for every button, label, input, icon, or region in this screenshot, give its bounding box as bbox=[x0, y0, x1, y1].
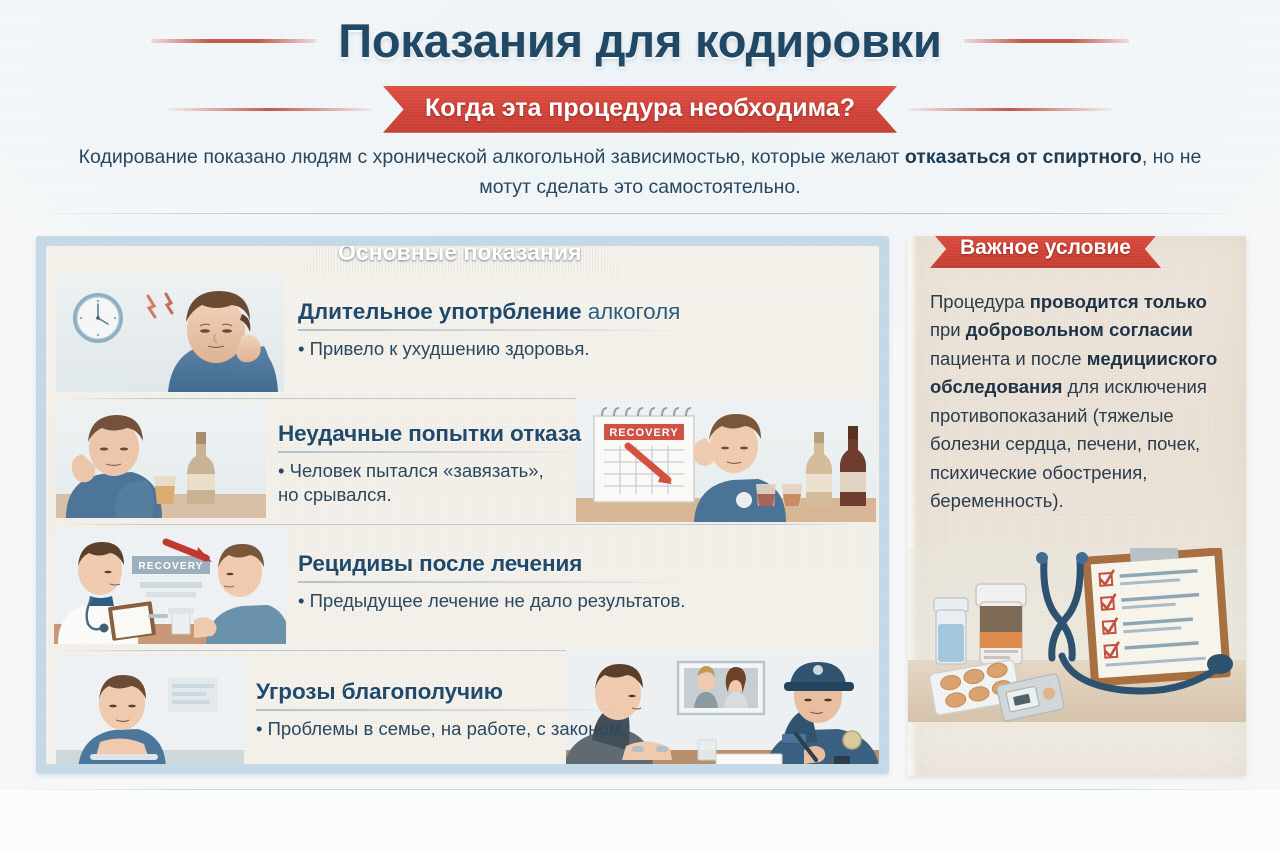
item-bullet: • Предыдущее лечение не дало результатов… bbox=[298, 589, 685, 613]
subtitle-rule-right bbox=[907, 108, 1112, 111]
item-underline bbox=[298, 329, 680, 331]
svg-text:RECOVERY: RECOVERY bbox=[138, 561, 203, 572]
infographic-page: Показания для кодировки Когда эта процед… bbox=[0, 0, 1280, 853]
tired-man-with-clock-illustration bbox=[56, 274, 284, 392]
calendar-recovery-relapse-illustration: RECOVERY bbox=[576, 398, 876, 522]
indications-list: Длительное употрбление алкоголя • Привел… bbox=[46, 246, 879, 764]
header-divider bbox=[30, 213, 1250, 214]
item-underline bbox=[256, 709, 627, 711]
condition-text-run-3: добровольном согласии bbox=[966, 319, 1193, 340]
item-title-bold: Угрозы благополучию bbox=[256, 679, 503, 704]
list-item: RECOVERY bbox=[46, 524, 879, 650]
important-condition-banner-label: Важное условие bbox=[960, 236, 1131, 259]
title-rule-left bbox=[151, 39, 316, 43]
important-condition-banner: Важное условие bbox=[930, 236, 1161, 268]
condition-text-run-1: проводится только bbox=[1030, 291, 1207, 312]
item-title-bold: Неудачные попытки отказа bbox=[278, 421, 581, 446]
item-bullet: • Проблемы в семье, на работе, с законом… bbox=[256, 717, 627, 741]
item-title: Рецидивы после лечения bbox=[298, 550, 685, 577]
item-title-bold: Длительное употрбление bbox=[298, 299, 582, 324]
svg-text:RECOVERY: RECOVERY bbox=[609, 427, 678, 439]
man-at-table-with-bottles-illustration bbox=[56, 402, 266, 518]
list-item: RECOVERY bbox=[46, 398, 879, 524]
main-indications-banner: Основные показания bbox=[298, 246, 621, 275]
item-title-light: алкоголя bbox=[582, 299, 681, 324]
doctor-and-patient-consultation-illustration: RECOVERY bbox=[54, 528, 286, 644]
title-rule-right bbox=[964, 39, 1129, 43]
item-text: Неудачные попытки отказа • Человек пытал… bbox=[278, 420, 581, 508]
intro-text-part1: Кодирование показано людям с хронической… bbox=[79, 146, 905, 168]
list-item: Длительное употрбление алкоголя • Привел… bbox=[46, 272, 879, 398]
item-title-bold: Рецидивы после лечения bbox=[298, 551, 582, 576]
header: Показания для кодировки Когда эта процед… bbox=[0, 0, 1280, 215]
main-indications-banner-label: Основные показания bbox=[338, 246, 581, 265]
item-underline bbox=[298, 581, 685, 583]
condition-text-run-4: пациента и после bbox=[930, 348, 1087, 369]
item-underline bbox=[278, 451, 581, 453]
title-row: Показания для кодировки bbox=[0, 16, 1280, 65]
main-indications-panel: Длительное употрбление алкоголя • Привел… bbox=[36, 236, 889, 774]
main-indications-paper: Длительное употрбление алкоголя • Привел… bbox=[46, 246, 879, 764]
medical-clipboard-pills-stethoscope-illustration bbox=[908, 548, 1246, 758]
condition-text-run-0: Процедура bbox=[930, 291, 1030, 312]
footer-area bbox=[0, 790, 1280, 853]
important-condition-body: Процедура проводится только при добровол… bbox=[930, 288, 1230, 516]
subtitle-ribbon-label: Когда эта процедура необходима? bbox=[425, 94, 855, 122]
item-title: Длительное употрбление алкоголя bbox=[298, 298, 680, 325]
condition-text-run-2: при bbox=[930, 319, 966, 340]
item-text: Длительное употрбление алкоголя • Привел… bbox=[298, 298, 680, 361]
page-title: Показания для кодировки bbox=[338, 16, 941, 65]
item-text: Рецидивы после лечения • Предыдущее лече… bbox=[298, 550, 685, 613]
item-bullet: • Человек пытался «завязать», но срывалс… bbox=[278, 459, 581, 508]
item-text: Угрозы благополучию • Проблемы в семье, … bbox=[256, 678, 627, 741]
item-title: Неудачные попытки отказа bbox=[278, 420, 581, 447]
item-bullet: • Привело к ухудшению здоровья. bbox=[298, 337, 680, 361]
list-item: Угрозы благополучию • Проблемы в семье, … bbox=[46, 650, 879, 764]
intro-paragraph: Кодирование показано людям с хронической… bbox=[75, 143, 1205, 202]
intro-text-bold: отказаться от спиртного bbox=[905, 146, 1142, 168]
subtitle-ribbon: Когда эта процедура необходима? bbox=[383, 86, 897, 133]
subtitle-rule-left bbox=[168, 108, 373, 111]
important-condition-panel: Важное условие Процедура проводится толь… bbox=[908, 236, 1246, 776]
subtitle-row: Когда эта процедура необходима? bbox=[0, 86, 1280, 133]
man-writing-at-desk-illustration bbox=[56, 658, 244, 764]
item-title: Угрозы благополучию bbox=[256, 678, 627, 705]
content-area: Длительное употрбление алкоголя • Привел… bbox=[0, 228, 1280, 788]
